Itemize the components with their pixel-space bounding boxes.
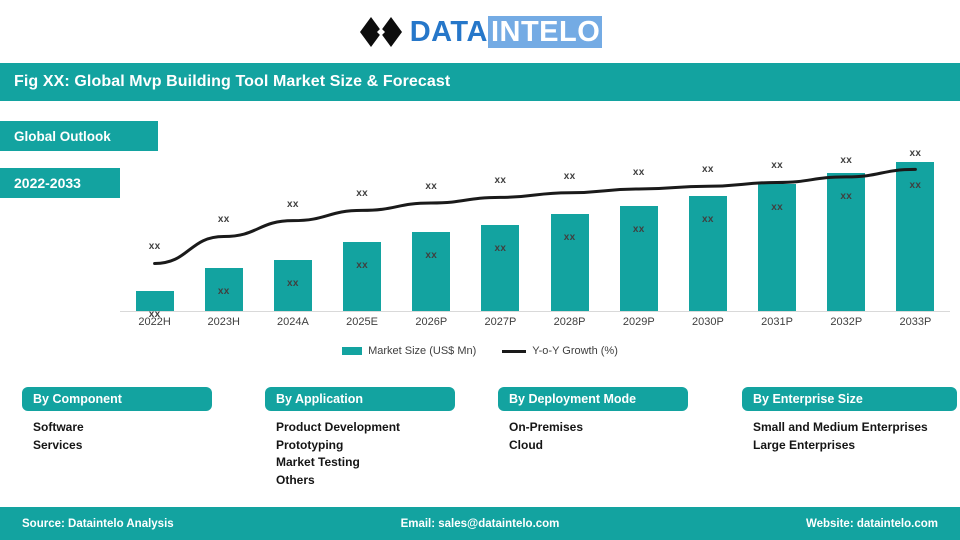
segment-item: Product Development <box>276 419 455 437</box>
chart-x-axis-label: 2029P <box>623 316 655 328</box>
chart-bar[interactable]: xx <box>136 291 174 311</box>
chart-x-axis-label: 2030P <box>692 316 724 328</box>
chart-growth-value-label: xx <box>287 199 299 210</box>
title-bar: Fig XX: Global Mvp Building Tool Market … <box>0 63 960 101</box>
chart-bar-value-label: xx <box>840 191 852 202</box>
page-title: Fig XX: Global Mvp Building Tool Market … <box>0 73 450 91</box>
chart-x-axis-label: 2024A <box>277 316 309 328</box>
segment-heading: By Enterprise Size <box>742 387 957 411</box>
segment-heading: By Application <box>265 387 455 411</box>
chart-growth-line <box>120 148 950 311</box>
footer-bar: Source: Dataintelo Analysis Email: sales… <box>0 507 960 540</box>
chart-x-axis-label: 2028P <box>554 316 586 328</box>
market-forecast-chart: xxxxxxxxxxxxxxxxxxxxxxxxxxxxxxxxxxxxxxxx… <box>120 148 950 320</box>
chart-growth-value-label: xx <box>910 148 922 159</box>
chart-x-axis-label: 2026P <box>415 316 447 328</box>
chart-bar-value-label: xx <box>356 260 368 271</box>
chart-bar[interactable]: xx <box>896 162 934 311</box>
chart-bar-value-label: xx <box>633 224 645 235</box>
chart-growth-value-label: xx <box>633 167 645 178</box>
chart-bar-value-label: xx <box>702 214 714 225</box>
double-diamond-icon <box>358 15 404 49</box>
footer-website[interactable]: Website: dataintelo.com <box>806 507 938 540</box>
brand-logo: DATAINTELO <box>0 8 960 56</box>
legend-label-market-size: Market Size (US$ Mn) <box>368 345 476 357</box>
chart-growth-value-label: xx <box>425 181 437 192</box>
segment-item: Services <box>33 437 212 455</box>
segment-card-by-component: By Component SoftwareServices <box>22 387 212 454</box>
chart-growth-value-label: xx <box>356 188 368 199</box>
logo-text-data: DATA <box>410 16 488 48</box>
chart-bar-value-label: xx <box>287 278 299 289</box>
segment-item: Prototyping <box>276 437 455 455</box>
chart-growth-value-label: xx <box>564 171 576 182</box>
chart-x-axis-label: 2027P <box>485 316 517 328</box>
chart-growth-value-label: xx <box>218 214 230 225</box>
segment-item: On-Premises <box>509 419 688 437</box>
chart-bar[interactable]: xx <box>827 173 865 311</box>
chart-plot-area: xxxxxxxxxxxxxxxxxxxxxxxxxxxxxxxxxxxxxxxx… <box>120 148 950 311</box>
segment-item: Others <box>276 472 455 490</box>
chart-x-axis-label: 2025E <box>346 316 378 328</box>
chart-bar[interactable]: xx <box>343 242 381 311</box>
chart-bar-value-label: xx <box>495 243 507 254</box>
chart-bar[interactable]: xx <box>274 260 312 311</box>
segment-item-list: Small and Medium EnterprisesLarge Enterp… <box>742 419 957 454</box>
chart-bar-value-label: xx <box>218 286 230 297</box>
legend-line-swatch-icon <box>502 350 526 353</box>
segment-card-by-enterprise-size: By Enterprise Size Small and Medium Ente… <box>742 387 957 454</box>
chart-x-axis-label: 2031P <box>761 316 793 328</box>
segment-item: Software <box>33 419 212 437</box>
legend-label-yoy-growth: Y-o-Y Growth (%) <box>532 345 618 357</box>
chart-x-axis-label: 2033P <box>900 316 932 328</box>
chart-bar[interactable]: xx <box>551 214 589 311</box>
segment-item: Market Testing <box>276 454 455 472</box>
chart-bar[interactable]: xx <box>481 225 519 311</box>
chart-growth-value-label: xx <box>702 164 714 175</box>
segment-item: Cloud <box>509 437 688 455</box>
logo-text-intelo: INTELO <box>488 16 602 48</box>
segment-item-list: SoftwareServices <box>22 419 212 454</box>
chart-bar[interactable]: xx <box>205 268 243 311</box>
badge-forecast-period: 2022-2033 <box>0 168 120 198</box>
legend-bar-swatch-icon <box>342 347 362 355</box>
segment-item: Small and Medium Enterprises <box>753 419 957 437</box>
chart-baseline-axis <box>120 311 950 312</box>
chart-x-axis-label: 2032P <box>830 316 862 328</box>
slide-root: DATAINTELO Fig XX: Global Mvp Building T… <box>0 0 960 540</box>
chart-bar[interactable]: xx <box>412 232 450 311</box>
chart-bar[interactable]: xx <box>620 206 658 311</box>
chart-growth-value-label: xx <box>495 175 507 186</box>
segment-card-by-deployment-mode: By Deployment Mode On-PremisesCloud <box>498 387 688 454</box>
chart-bar-value-label: xx <box>425 250 437 261</box>
chart-growth-value-label: xx <box>149 241 161 252</box>
chart-x-axis-label: 2023H <box>208 316 240 328</box>
segment-heading: By Component <box>22 387 212 411</box>
chart-growth-value-label: xx <box>840 155 852 166</box>
chart-bar[interactable]: xx <box>689 196 727 311</box>
chart-bar-value-label: xx <box>564 232 576 243</box>
segment-item-list: On-PremisesCloud <box>498 419 688 454</box>
legend-item-yoy-growth: Y-o-Y Growth (%) <box>502 345 618 357</box>
legend-item-market-size: Market Size (US$ Mn) <box>342 345 476 357</box>
badge-global-outlook: Global Outlook <box>0 121 158 151</box>
badge-global-outlook-label: Global Outlook <box>14 129 111 144</box>
chart-growth-value-label: xx <box>771 160 783 171</box>
chart-x-axis-label: 2022H <box>138 316 170 328</box>
chart-bar-value-label: xx <box>771 202 783 213</box>
badge-forecast-period-label: 2022-2033 <box>14 175 81 191</box>
chart-x-axis-labels: 2022H2023H2024A2025E2026P2027P2028P2029P… <box>120 316 950 334</box>
segment-card-by-application: By Application Product DevelopmentProtot… <box>265 387 455 489</box>
chart-legend: Market Size (US$ Mn) Y-o-Y Growth (%) <box>0 341 960 361</box>
chart-bar-value-label: xx <box>910 180 922 191</box>
segment-heading: By Deployment Mode <box>498 387 688 411</box>
segment-item: Large Enterprises <box>753 437 957 455</box>
segment-item-list: Product DevelopmentPrototypingMarket Tes… <box>265 419 455 489</box>
chart-bar[interactable]: xx <box>758 184 796 311</box>
